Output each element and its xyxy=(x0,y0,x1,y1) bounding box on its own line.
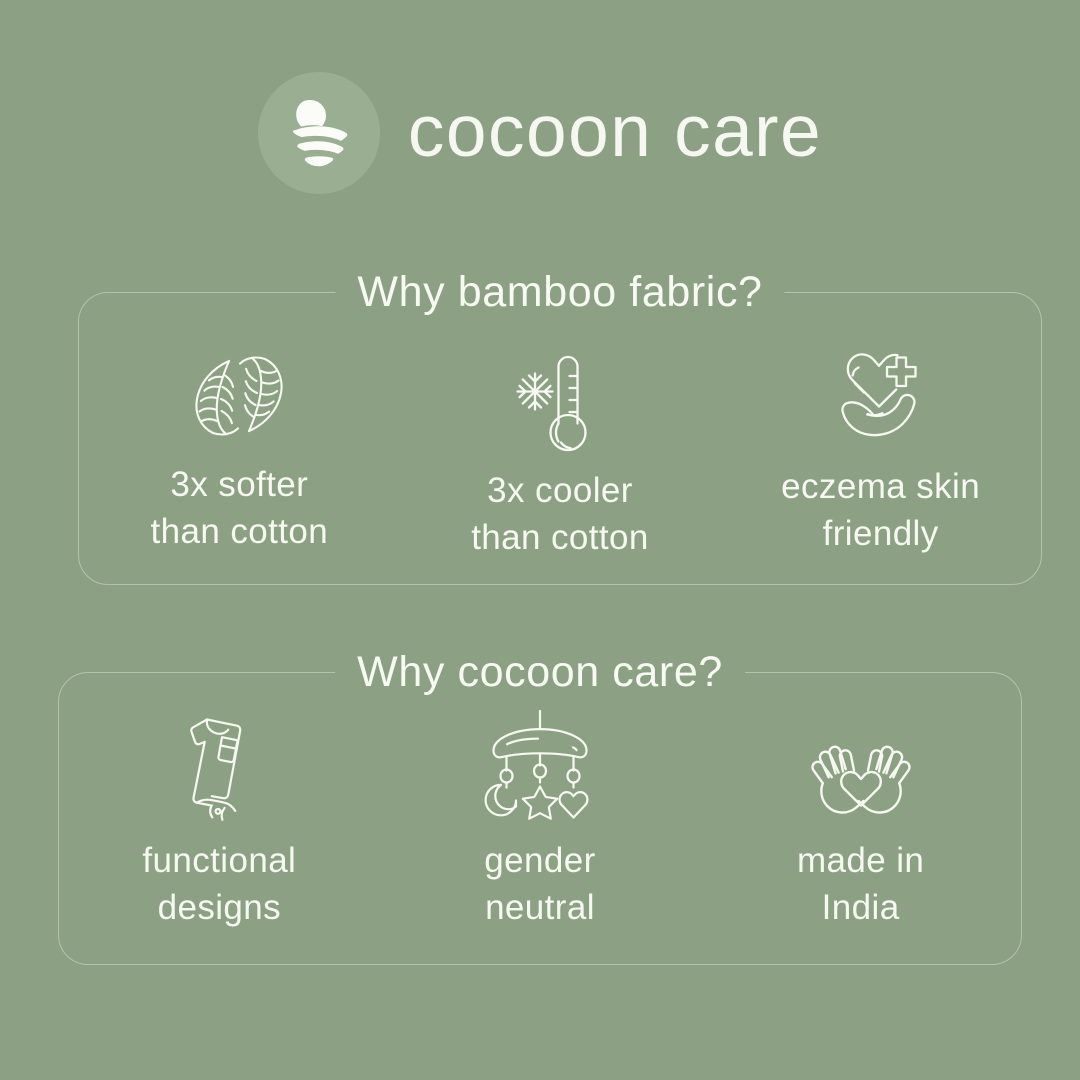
feature-label: eczema skin friendly xyxy=(781,463,980,557)
poster-canvas: cocoon care Why bamboo fabric? xyxy=(0,0,1080,1080)
heart-cross-in-hand-icon xyxy=(822,327,940,457)
feature-item: functional designs xyxy=(69,701,369,925)
section-card-bamboo: Why bamboo fabric? xyxy=(78,292,1042,585)
feature-label: 3x cooler than cotton xyxy=(471,467,649,561)
feature-item: 3x softer than cotton xyxy=(89,331,389,555)
feature-row-cocoon: functional designs xyxy=(59,673,1021,964)
feature-label: 3x softer than cotton xyxy=(151,461,329,555)
feature-item: made in India xyxy=(711,707,1011,931)
cocoon-leaf-mark-icon xyxy=(258,72,380,194)
brand-header: cocoon care xyxy=(0,72,1080,194)
thermometer-snowflake-icon xyxy=(501,337,619,467)
baby-onesie-icon xyxy=(160,701,278,831)
section-card-cocoon: Why cocoon care? xyxy=(58,672,1022,965)
feature-item: gender neutral xyxy=(390,699,690,923)
crib-mobile-icon xyxy=(481,699,599,829)
brand-wordmark: cocoon care xyxy=(408,95,822,168)
feature-label: made in India xyxy=(797,837,924,931)
hands-holding-heart-icon xyxy=(802,707,920,837)
feature-row-bamboo: 3x softer than cotton xyxy=(79,293,1041,584)
feature-label: functional designs xyxy=(142,837,296,931)
feature-item: eczema skin friendly xyxy=(731,327,1031,557)
two-feathers-icon xyxy=(180,331,298,461)
feature-item: 3x cooler than cotton xyxy=(410,337,710,561)
feature-label: gender neutral xyxy=(484,837,595,931)
